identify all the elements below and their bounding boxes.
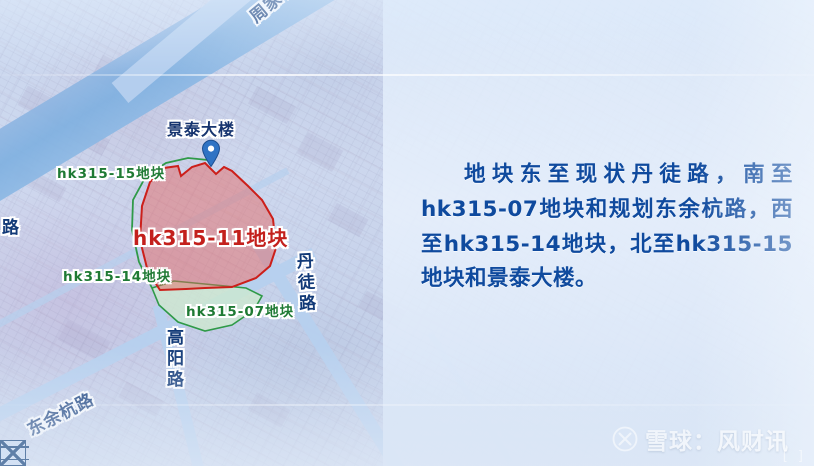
info-panel-body-text: 地块东至现状丹徒路，南至hk315-07地块和规划东余杭路，西至hk315-14… [421, 158, 793, 297]
sheen-line-lower [0, 404, 814, 406]
map-pin-icon[interactable] [201, 139, 221, 167]
map-scale-icon[interactable] [0, 440, 26, 466]
road-label-gaoyang: 高阳路 [161, 328, 186, 391]
parcel-label-hk315-15: hk315-15地块 [57, 162, 165, 182]
road-label-dantu: 丹徒路 [290, 251, 318, 315]
sheen-line-upper [0, 74, 814, 76]
parcel-label-hk315-14: hk315-14地块 [63, 265, 171, 285]
poi-label-jingtai-building: 景泰大楼 [167, 116, 235, 140]
screenshot-root: 周家嘴路 丹徒路 高阳路 东余杭路 路 景泰大楼 hk315-15地块 hk31… [0, 0, 814, 466]
road-label-left-edge: 路 [0, 218, 21, 239]
parcel-label-hk315-07: hk315-07地块 [186, 300, 294, 320]
parcel-label-hk315-11: hk315-11地块 [133, 222, 288, 251]
info-panel-overlay: 地块东至现状丹徒路，南至hk315-07地块和规划东余杭路，西至hk315-14… [383, 0, 814, 466]
corner-mark: [ ] [783, 449, 806, 464]
